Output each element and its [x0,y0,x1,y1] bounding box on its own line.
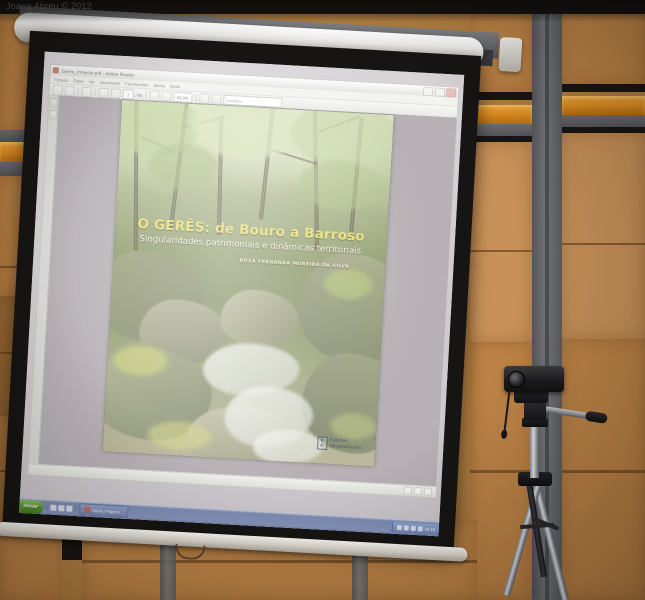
taskbar-window-button[interactable]: Geres_Projecto... [79,503,129,518]
network-icon[interactable] [397,524,402,529]
tripod-center-column [530,426,539,478]
zoom-out-icon[interactable] [149,90,160,101]
snapshot-icon[interactable] [211,94,222,105]
photo-watermark: Joana Abreu © 2012 [6,1,92,11]
adobe-reader-icon [53,67,59,73]
taskbar-window-label: Geres_Projecto... [92,507,123,514]
page-total-label: / 96 [135,92,142,97]
save-icon[interactable] [52,85,63,96]
menu-ficheiro[interactable]: Ficheiro [54,77,68,83]
photograph-scene: Geres_Projecto.pdf - Adobe Reader Fichei… [0,0,645,600]
select-tool-icon[interactable] [199,93,210,104]
camcorder-lens [508,371,525,388]
wall-panel [562,133,645,339]
screen-roller-cap [498,37,522,72]
camcorder-strap [503,390,510,432]
page-number-input[interactable]: 1 [122,89,134,100]
panel-gap [560,84,645,92]
wall-frame [560,115,645,127]
panel-seam [562,243,645,245]
internet-explorer-icon[interactable] [58,505,64,511]
tripod-head [524,402,546,420]
window-controls[interactable] [423,86,456,97]
camcorder-tripod-rig [470,352,645,600]
publisher-name: Edições Afrontamento [329,438,362,450]
toolbar-separator [94,88,95,96]
close-button[interactable] [446,88,456,98]
print-icon[interactable] [64,86,75,97]
start-button[interactable]: iniciar [19,499,43,513]
clock[interactable]: 16:18 [425,526,435,532]
single-page-icon[interactable] [404,486,412,494]
zoom-in-icon[interactable] [161,91,172,102]
continuous-icon[interactable] [414,487,422,495]
projection-haze [103,100,394,467]
quick-launch-bar[interactable] [46,504,76,512]
bookmarks-panel-icon[interactable] [49,110,57,119]
pdf-page-area[interactable]: O GERÊS: de Bouro a Barroso Singularidad… [39,95,457,487]
email-icon[interactable] [81,87,92,98]
projection-screen: Geres_Projecto.pdf - Adobe Reader Fichei… [0,0,517,600]
document-workarea: O GERÊS: de Bouro a Barroso Singularidad… [29,95,457,487]
find-placeholder: Localizar [226,97,242,103]
toolbar-separator [195,94,196,102]
publisher-logo: Edições Afrontamento [317,436,362,451]
next-page-icon[interactable] [110,88,121,99]
pan-handle [544,406,598,420]
wall-accent-bar [562,96,645,115]
system-tray[interactable]: 16:18 [392,521,440,535]
toolbar-separator [145,91,146,99]
previous-page-icon[interactable] [98,88,109,99]
volume-icon[interactable] [404,525,409,530]
adobe-reader-icon [84,506,90,512]
book-cover-page: O GERÊS: de Bouro a Barroso Singularidad… [103,100,394,467]
menu-janela[interactable]: Janela [153,82,165,88]
menu-ver[interactable]: Ver [89,79,95,84]
screen-pull-handle [175,544,206,561]
adobe-reader-window[interactable]: Geres_Projecto.pdf - Adobe Reader Fichei… [27,64,459,498]
menu-ajuda[interactable]: Ajuda [170,83,180,89]
frame-top-shade [0,0,645,22]
menu-documento[interactable]: Documento [100,79,121,85]
projected-desktop: Geres_Projecto.pdf - Adobe Reader Fichei… [19,52,464,537]
maximize-button[interactable] [434,87,444,97]
facing-icon[interactable] [424,487,432,495]
show-desktop-icon[interactable] [50,505,56,511]
menu-editar[interactable]: Editar [73,78,84,84]
minimize-button[interactable] [423,86,433,96]
menu-ferramentas[interactable]: Ferramentas [125,81,148,87]
toolbar-separator [77,87,78,95]
afrontamento-logo-icon [317,436,328,450]
antivirus-icon[interactable] [411,525,416,530]
pages-panel-icon[interactable] [49,98,57,107]
media-player-icon[interactable] [66,505,72,511]
usb-icon[interactable] [418,526,423,531]
publisher-line-2: Afrontamento [329,444,361,451]
